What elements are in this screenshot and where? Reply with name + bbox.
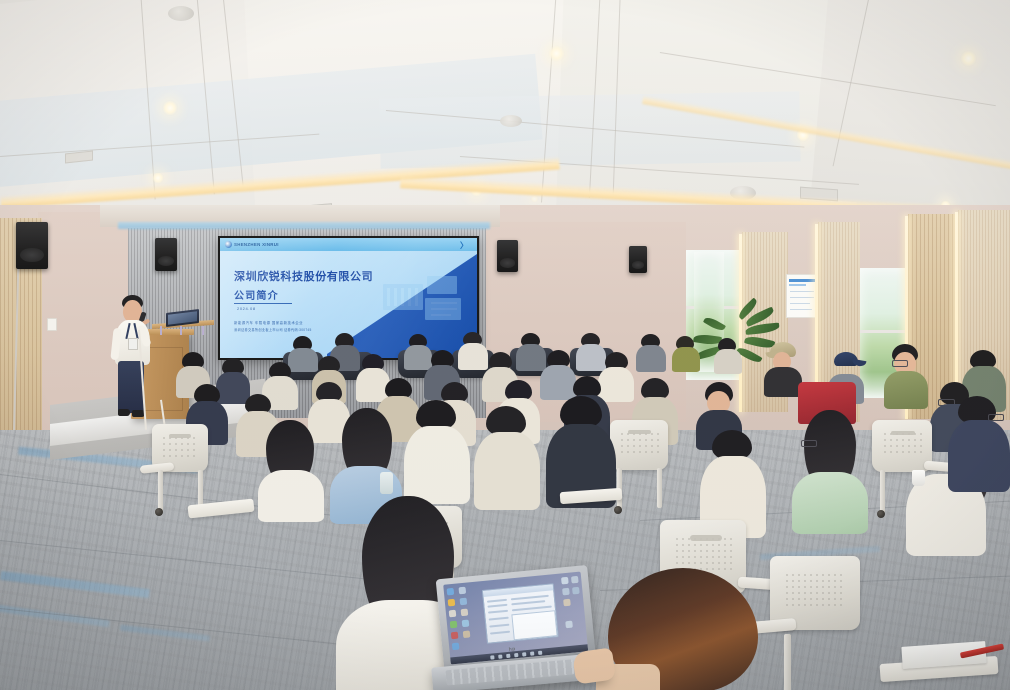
slide-logo: SHENZHEN XINRUI <box>225 241 279 248</box>
audience-member <box>474 406 540 506</box>
audience-member <box>404 400 470 500</box>
glasses-icon <box>801 440 817 447</box>
light-switch-plate[interactable] <box>47 318 57 331</box>
poster-subbar <box>789 284 806 286</box>
slide-footnote-1: 新能源汽车 车载电源 国家高新技术企业 <box>234 320 303 325</box>
poster-line <box>790 297 814 298</box>
slide-footnote-2: 深圳证券交易所创业板上市公司 证券代码:300745 <box>234 327 312 332</box>
poster-line <box>790 291 814 292</box>
ceiling <box>0 0 1010 230</box>
audience-member <box>672 336 700 370</box>
poster-line <box>790 303 810 304</box>
wall-poster <box>786 274 818 318</box>
glasses-icon <box>892 360 908 367</box>
foreground-person <box>596 568 766 690</box>
audience-member <box>792 410 868 528</box>
conference-room-photo: SHENZHEN XINRUI 〉 <box>0 0 1010 690</box>
chair[interactable] <box>770 556 860 690</box>
badge <box>128 338 138 350</box>
laptop-brand-logo: hp <box>508 646 515 653</box>
audience-member <box>636 334 666 370</box>
foreground-laptop[interactable]: hp <box>432 572 608 690</box>
product-illustration <box>377 270 469 332</box>
wall-speaker <box>629 246 647 273</box>
audience-member-with-cap <box>764 342 802 394</box>
poster-line <box>790 309 812 310</box>
slide-logo-text: SHENZHEN XINRUI <box>234 241 279 246</box>
wall-speaker <box>497 240 518 272</box>
open-dialog-window[interactable] <box>482 583 559 644</box>
water-bottle[interactable] <box>380 472 393 494</box>
chair[interactable] <box>152 424 208 514</box>
wall-speaker <box>16 222 48 269</box>
company-logo-icon <box>225 241 232 248</box>
paper-cup[interactable] <box>912 470 925 486</box>
presenter <box>110 295 158 425</box>
slide-title: 深圳欣锐科技股份有限公司 <box>234 268 373 284</box>
wall-speaker <box>155 238 177 271</box>
shelf-legs <box>158 326 210 335</box>
audience-member <box>700 430 766 534</box>
audience-member <box>714 338 742 372</box>
slide-subtitle: 公司简介 <box>234 287 279 302</box>
typing-hand <box>572 647 616 684</box>
audience-member <box>546 396 616 504</box>
window-frame <box>860 330 908 333</box>
audience-member <box>884 344 928 406</box>
poster-header-bar <box>789 279 815 282</box>
stage-soffit-glow <box>118 222 490 229</box>
ceiling-speaker-icon <box>500 115 522 127</box>
ceiling-speaker-icon <box>168 6 194 21</box>
audience-member <box>948 396 1010 488</box>
audience-member <box>258 420 324 516</box>
slide-divider <box>234 303 292 304</box>
slide-date: 2024.08 <box>237 306 256 311</box>
